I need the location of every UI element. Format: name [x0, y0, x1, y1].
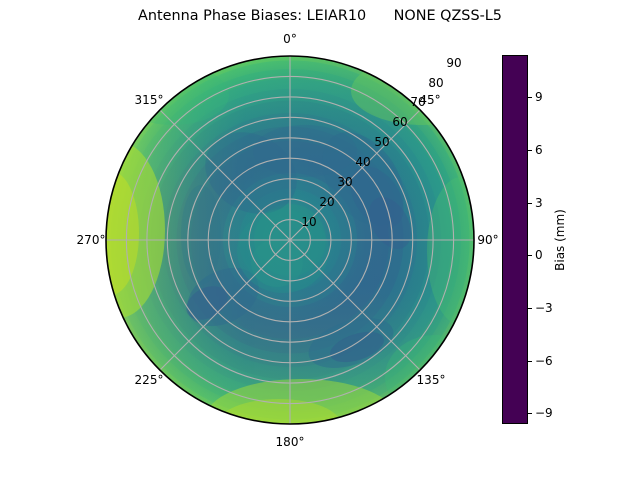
colorbar-tick-label-neg6: −6	[535, 354, 553, 368]
colorbar-tick-mark-neg3	[528, 308, 532, 309]
radial-tick-60: 60	[392, 115, 407, 129]
chart-title: Antenna Phase Biases: LEIAR10 NONE QZSS-…	[0, 8, 640, 24]
radial-tick-30: 30	[337, 175, 352, 189]
figure-canvas: Antenna Phase Biases: LEIAR10 NONE QZSS-…	[0, 0, 640, 480]
colorbar-tick-mark-3	[528, 203, 532, 204]
radial-tick-80: 80	[428, 76, 443, 90]
colorbar-axis-label: Bias (mm)	[553, 209, 567, 271]
colorbar-tick-mark-9	[528, 97, 532, 98]
colorbar-tick-label-0: 0	[535, 248, 543, 262]
polar-gridlines	[106, 56, 474, 424]
colorbar-tick-mark-6	[528, 150, 532, 151]
angular-tick-0: 0°	[283, 32, 297, 46]
radial-tick-20: 20	[319, 195, 334, 209]
radial-tick-40: 40	[355, 155, 370, 169]
angular-tick-315: 315°	[135, 93, 164, 107]
colorbar-tick-label-neg9: −9	[535, 406, 553, 420]
colorbar-gradient	[502, 55, 528, 424]
colorbar[interactable]: 9 6 3 0 −3 −6 −9	[502, 55, 528, 424]
angular-tick-135: 135°	[417, 373, 446, 387]
angular-tick-270: 270°	[77, 233, 106, 247]
angular-tick-90: 90°	[477, 233, 498, 247]
radial-tick-90: 90	[446, 56, 461, 70]
polar-plot-surface	[105, 55, 475, 425]
radial-tick-50: 50	[374, 135, 389, 149]
polar-axes: 0° 45° 90° 135° 180° 225° 270° 315° 10 2…	[105, 55, 475, 425]
colorbar-tick-label-3: 3	[535, 196, 543, 210]
colorbar-tick-mark-neg6	[528, 361, 532, 362]
colorbar-tick-label-6: 6	[535, 143, 543, 157]
colorbar-tick-mark-0	[528, 255, 532, 256]
radial-tick-70: 70	[410, 95, 425, 109]
radial-tick-10: 10	[301, 215, 316, 229]
angular-tick-180: 180°	[276, 435, 305, 449]
colorbar-tick-label-9: 9	[535, 90, 543, 104]
colorbar-tick-mark-neg9	[528, 413, 532, 414]
colorbar-tick-label-neg3: −3	[535, 301, 553, 315]
angular-tick-225: 225°	[135, 373, 164, 387]
